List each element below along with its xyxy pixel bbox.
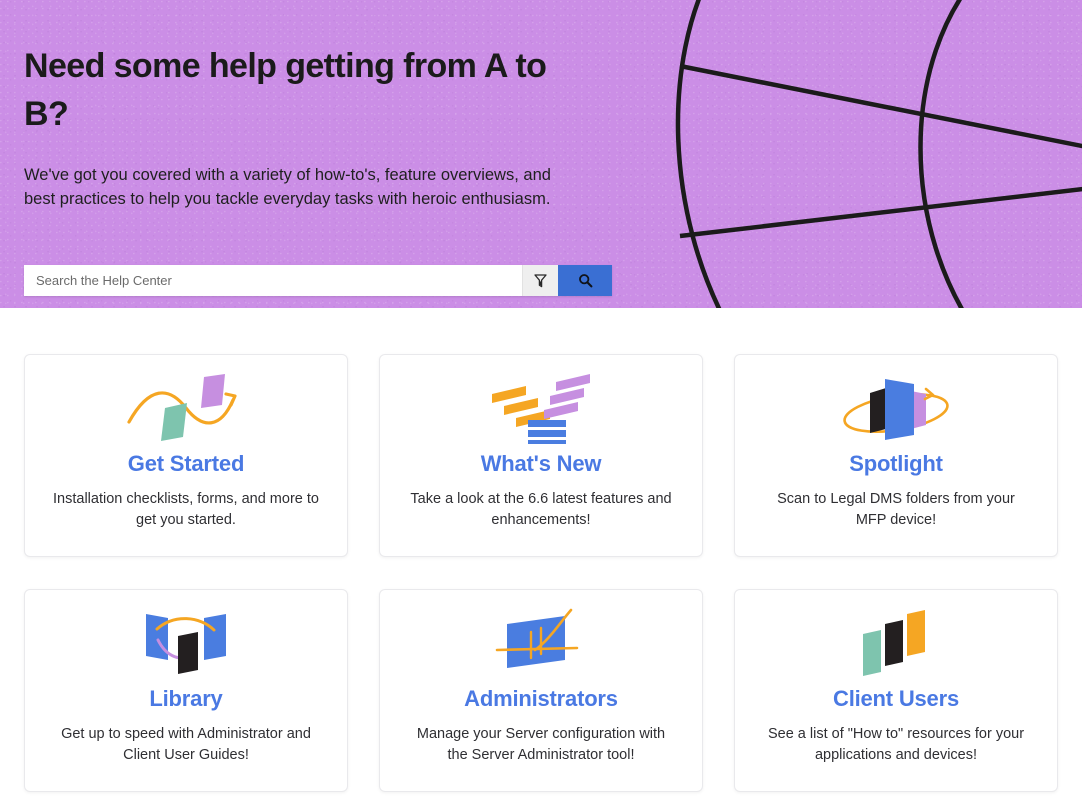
card-whats-new[interactable]: What's New Take a look at the 6.6 latest…: [379, 354, 703, 557]
filter-button[interactable]: [522, 265, 558, 296]
card-icon-wrap: [125, 371, 247, 445]
search-bar: [24, 265, 612, 296]
page-title: Need some help getting from A to B?: [24, 42, 599, 139]
chart-panel-icon: [493, 608, 589, 678]
hero-subtitle: We've got you covered with a variety of …: [24, 163, 584, 211]
card-spotlight[interactable]: Spotlight Scan to Legal DMS folders from…: [734, 354, 1058, 557]
card-description: Manage your Server configuration with th…: [405, 724, 677, 766]
hero-content: Need some help getting from A to B? We'v…: [0, 0, 640, 211]
card-description: Take a look at the 6.6 latest features a…: [405, 489, 677, 531]
card-title: Get Started: [128, 451, 244, 477]
orbiting-panels-icon: [838, 371, 954, 445]
card-client-users[interactable]: Client Users See a list of "How to" reso…: [734, 589, 1058, 792]
card-icon-wrap: [857, 606, 935, 680]
card-title: What's New: [481, 451, 602, 477]
card-title: Library: [149, 686, 222, 712]
hero-decoration-art: [652, 0, 1082, 308]
category-card-grid: Get Started Installation checklists, for…: [0, 308, 1082, 792]
card-title: Spotlight: [849, 451, 943, 477]
card-icon-wrap: [138, 606, 234, 680]
search-input[interactable]: [24, 265, 522, 296]
search-button[interactable]: [558, 265, 612, 296]
card-icon-wrap: [493, 606, 589, 680]
card-library[interactable]: Library Get up to speed with Administrat…: [24, 589, 348, 792]
card-title: Administrators: [464, 686, 618, 712]
card-description: Get up to speed with Administrator and C…: [50, 724, 322, 766]
magnifier-icon: [578, 273, 593, 288]
card-icon-wrap: [838, 371, 954, 445]
card-title: Client Users: [833, 686, 959, 712]
stacked-bars-v-icon: [486, 372, 596, 444]
card-get-started[interactable]: Get Started Installation checklists, for…: [24, 354, 348, 557]
card-icon-wrap: [486, 371, 596, 445]
hero-banner: Need some help getting from A to B? We'v…: [0, 0, 1082, 308]
funnel-icon: [534, 274, 547, 288]
card-description: See a list of "How to" resources for you…: [760, 724, 1032, 766]
card-description: Scan to Legal DMS folders from your MFP …: [760, 489, 1032, 531]
curve-arrow-panels-icon: [125, 372, 247, 444]
card-description: Installation checklists, forms, and more…: [50, 489, 322, 531]
book-panels-icon: [138, 608, 234, 678]
three-bars-icon: [857, 608, 935, 678]
card-administrators[interactable]: Administrators Manage your Server config…: [379, 589, 703, 792]
